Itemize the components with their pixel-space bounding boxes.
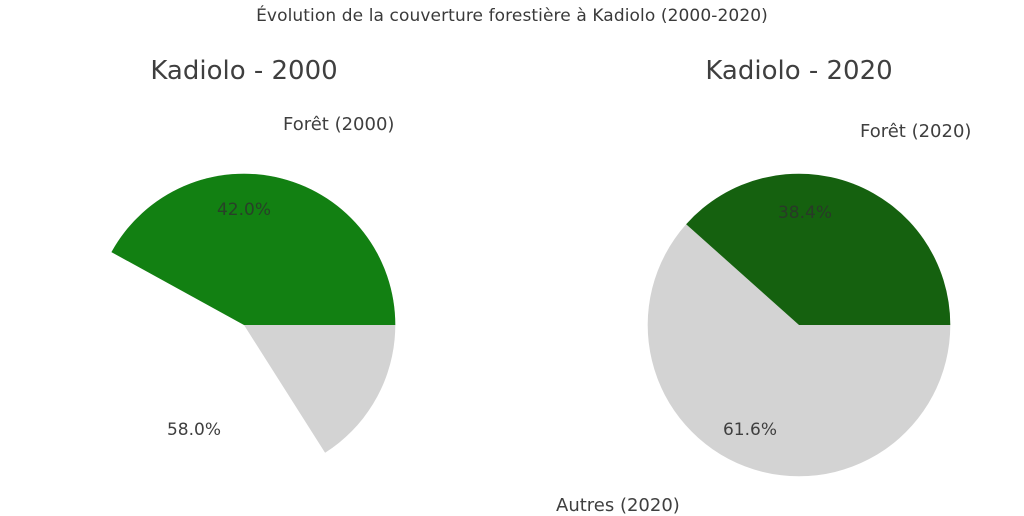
figure-canvas: Évolution de la couverture forestière à … — [0, 0, 1024, 507]
subplot-title-left: Kadiolo - 2000 — [44, 56, 444, 86]
subplot-title-right: Kadiolo - 2020 — [599, 56, 999, 86]
wedge-label-forest-2020: Forêt (2020) — [860, 121, 971, 142]
pct-label-forest-2020: 38.4% — [735, 203, 875, 223]
figure-suptitle: Évolution de la couverture forestière à … — [0, 6, 1024, 26]
pie-chart-2020 — [623, 149, 975, 501]
wedge-label-other-2020: Autres (2020) — [556, 495, 680, 516]
pct-label-other-2000: 58.0% — [124, 420, 264, 440]
pct-label-other-2020: 61.6% — [680, 420, 820, 440]
pie-slice-forest-2000 — [111, 174, 395, 325]
wedge-label-forest-2000: Forêt (2000) — [283, 114, 394, 135]
pct-label-forest-2000: 42.0% — [174, 200, 314, 220]
